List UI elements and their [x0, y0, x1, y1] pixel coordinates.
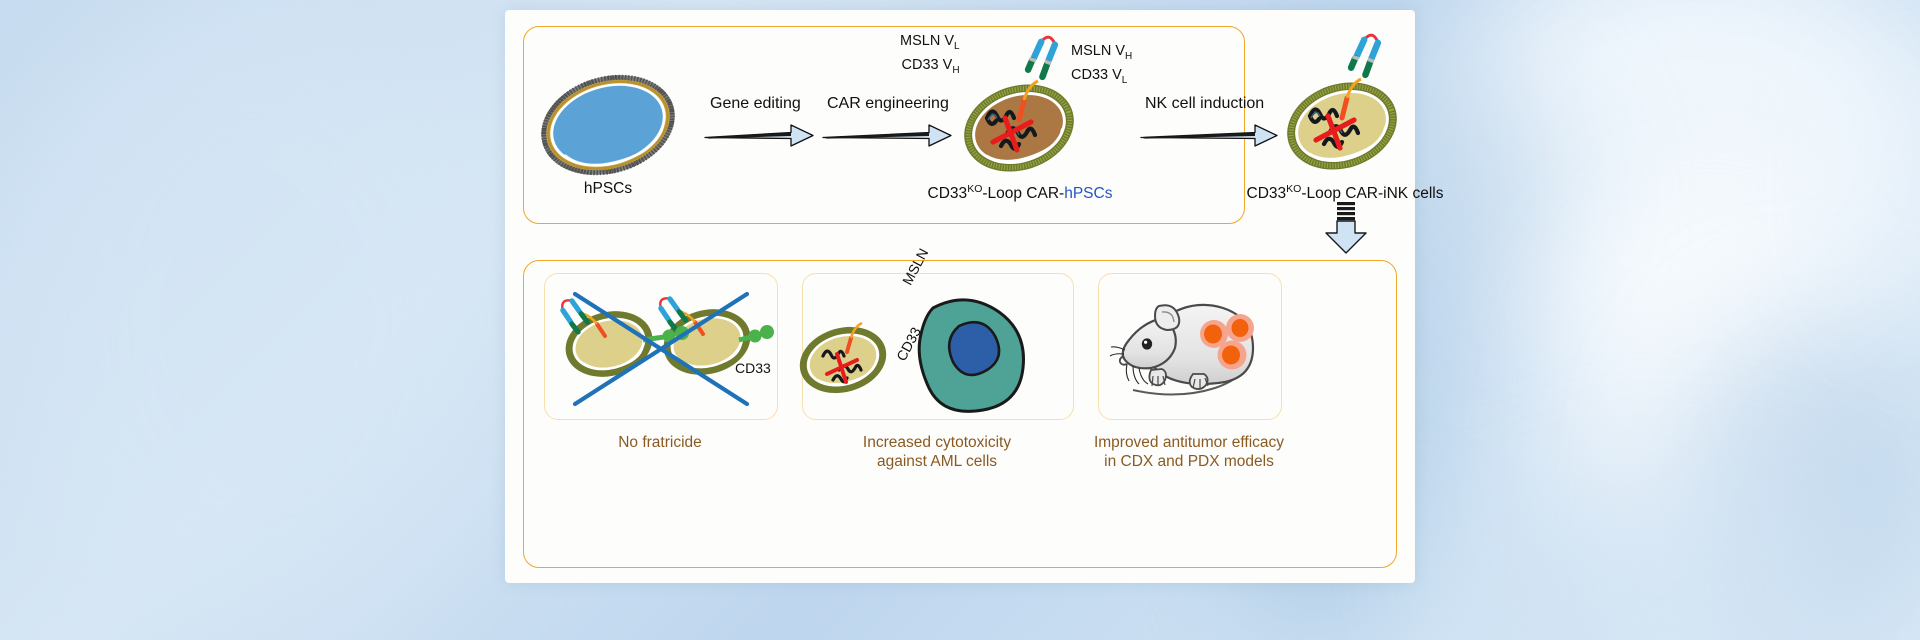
caption-efficacy-line2: in CDX and PDX models	[1078, 452, 1300, 471]
car-ink-scfv-graphic	[1343, 26, 1403, 88]
caption-improved-efficacy: Improved antitumor efficacy in CDX and P…	[1078, 433, 1300, 471]
car-label-right-line2: CD33 VL	[1071, 66, 1132, 90]
car-label-left-line1: MSLN VL	[900, 32, 960, 56]
step-text-nk-induction: NK cell induction	[1145, 95, 1264, 112]
step-text-car-engineering: CAR engineering	[827, 95, 949, 112]
subpanel-increased-cytotoxicity: MSLN CD33	[802, 273, 1074, 420]
car-label-left: MSLN VL CD33 VH	[900, 32, 960, 80]
car-ink-label: CD33KO-Loop CAR-iNK cells	[1220, 180, 1470, 203]
bottom-panel: CD33 No fratricide	[523, 260, 1397, 568]
msln-label: MSLN	[899, 246, 931, 288]
car-hpsc-label-mid: -Loop CAR-	[982, 185, 1064, 202]
hpsc-label: hPSCs	[523, 180, 693, 198]
car-hpsc-label: CD33KO-Loop CAR-hPSCs	[895, 180, 1145, 203]
step-label-car-engineering: CAR engineering	[827, 95, 949, 113]
figure-card: hPSCs Gene editing CAR engineering	[505, 10, 1415, 583]
no-fratricide-graphic	[551, 282, 773, 414]
cd33-inline-label: CD33	[735, 360, 771, 376]
subpanel-improved-efficacy	[1098, 273, 1282, 420]
car-ink-label-pre: CD33	[1247, 185, 1287, 202]
car-ink-label-mid: -Loop CAR-iNK cells	[1301, 185, 1443, 202]
car-ink-label-sup: KO	[1286, 183, 1301, 195]
caption-no-fratricide: No fratricide	[544, 433, 776, 452]
car-label-right-line1: MSLN VH	[1071, 42, 1132, 66]
car-label-right: MSLN VH CD33 VL	[1071, 42, 1132, 90]
step-text-gene-editing: Gene editing	[710, 95, 801, 112]
car-hpsc-label-accent: hPSCs	[1064, 185, 1112, 202]
car-hpsc-label-pre: CD33	[928, 185, 968, 202]
cytotoxicity-graphic	[807, 280, 1069, 416]
step-label-gene-editing: Gene editing	[710, 95, 801, 113]
cd33-label: CD33	[893, 324, 924, 363]
background-blob-left	[0, 0, 520, 640]
mouse-graphic	[1107, 284, 1275, 410]
step-label-nk-induction: NK cell induction	[1145, 95, 1264, 113]
caption-no-fratricide-line1: No fratricide	[544, 433, 776, 452]
car-ink-cell-graphic	[1280, 68, 1404, 180]
car-label-left-line2: CD33 VH	[900, 56, 960, 80]
down-arrow-icon	[1320, 200, 1372, 256]
hpsc-label-text: hPSCs	[584, 180, 632, 197]
caption-cytotox-line2: against AML cells	[802, 452, 1072, 471]
subpanel-no-fratricide: CD33	[544, 273, 778, 420]
caption-efficacy-line1: Improved antitumor efficacy	[1078, 433, 1300, 452]
car-hpsc-label-sup: KO	[967, 183, 982, 195]
caption-increased-cytotoxicity: Increased cytotoxicity against AML cells	[802, 433, 1072, 471]
caption-cytotox-line1: Increased cytotoxicity	[802, 433, 1072, 452]
